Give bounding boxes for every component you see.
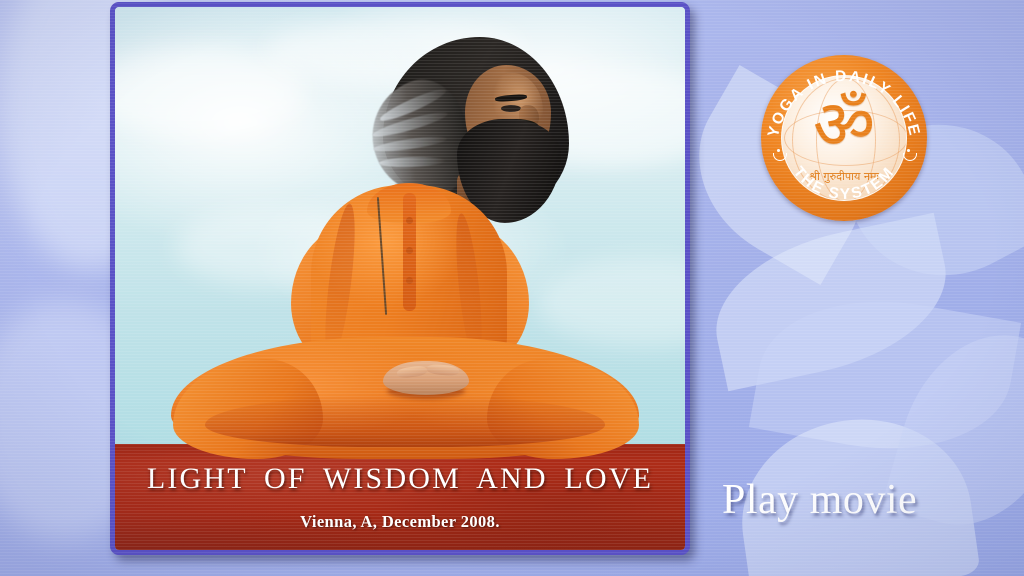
logo-bottom-arc-label: THE SYSTEM (790, 163, 899, 203)
lotus-mark-icon (907, 149, 910, 152)
lotus-mark-icon (777, 149, 780, 152)
robe-button (406, 217, 413, 224)
legs-shadow (205, 395, 605, 447)
dvd-menu-screen: LIGHT OF WISDOM AND LOVE Vienna, A, Dece… (0, 0, 1024, 576)
yoga-in-daily-life-logo: ॐ श्री गुरुदीपाय नमः YOGA IN DAILY LIFE … (761, 55, 927, 221)
play-movie-button[interactable]: Play movie (722, 476, 917, 524)
cover-subtitle: Vienna, A, December 2008. (115, 512, 685, 532)
cover-art-frame[interactable]: LIGHT OF WISDOM AND LOVE Vienna, A, Dece… (110, 2, 690, 555)
hands-in-lap (383, 361, 469, 395)
eye (501, 105, 521, 112)
robe-button (406, 277, 413, 284)
logo-top-arc-label: YOGA IN DAILY LIFE (765, 68, 923, 139)
cover-title: LIGHT OF WISDOM AND LOVE (115, 462, 685, 496)
robe-button (406, 247, 413, 254)
logo-arc-text: YOGA IN DAILY LIFE THE SYSTEM (761, 55, 927, 221)
cover-caption: LIGHT OF WISDOM AND LOVE Vienna, A, Dece… (115, 462, 685, 532)
